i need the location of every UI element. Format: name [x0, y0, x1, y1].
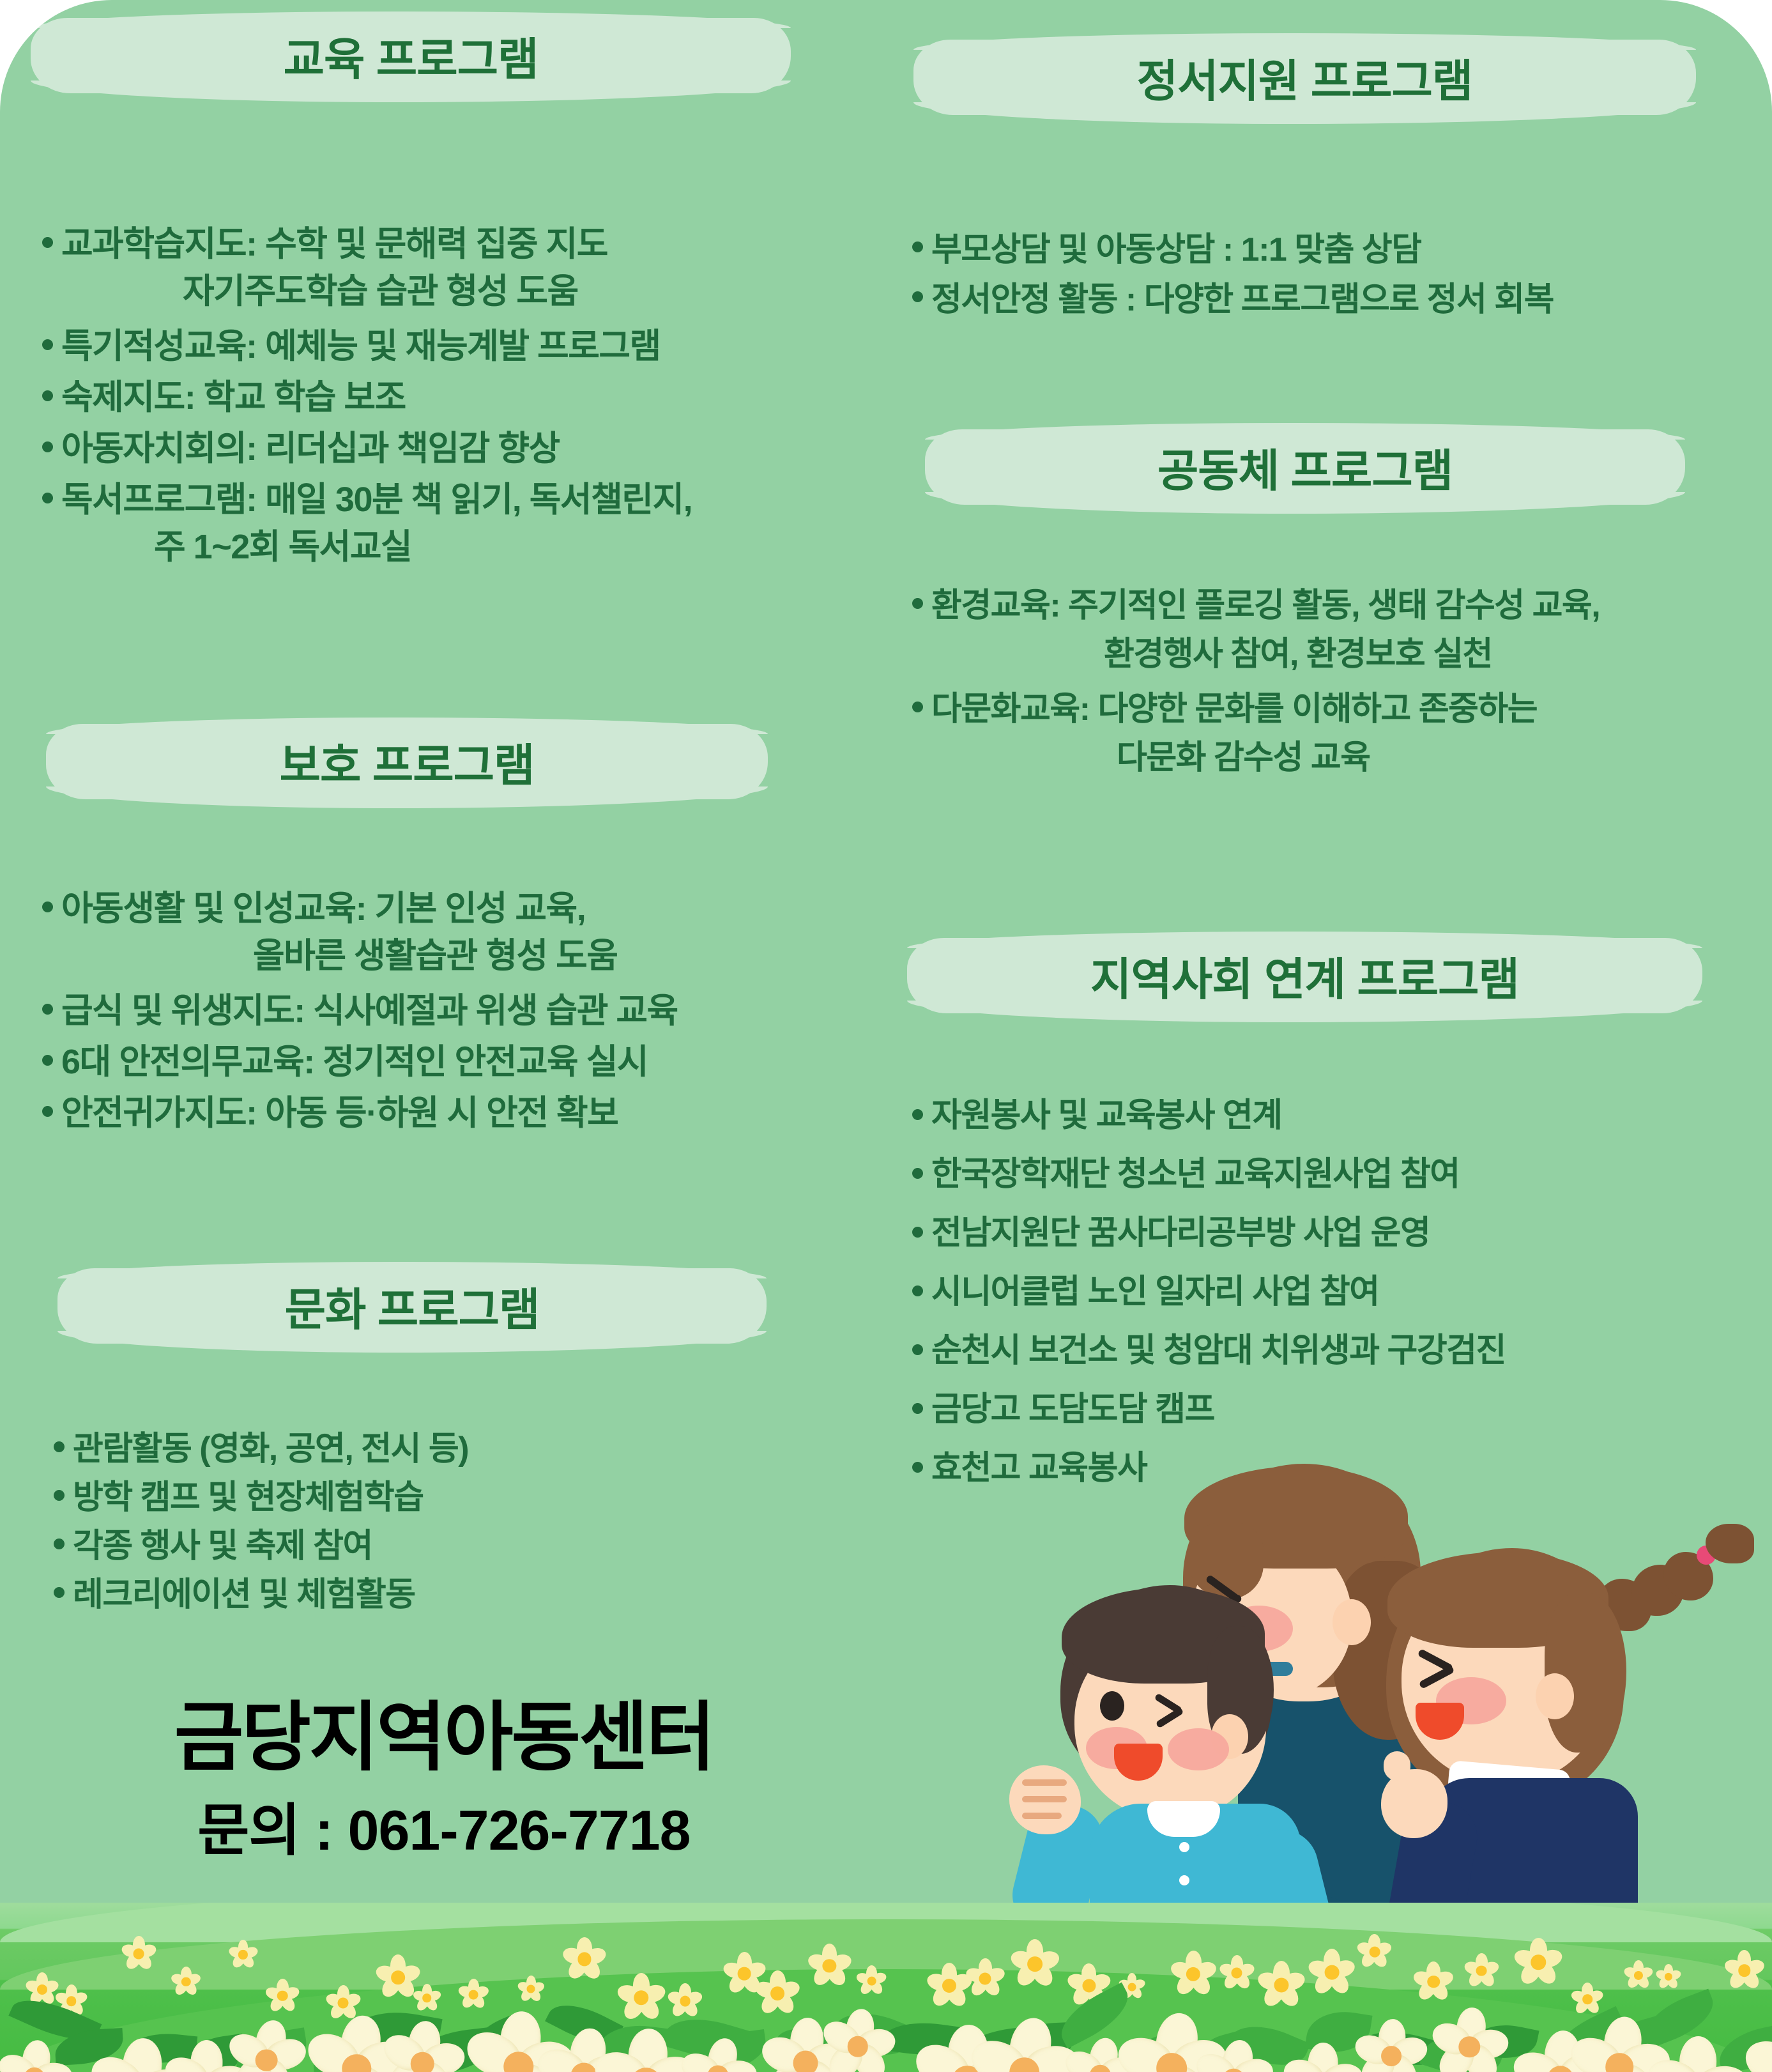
star-center — [634, 1990, 649, 2006]
star-flower — [460, 1981, 488, 2009]
list-item: 안전귀가지도: 아동 등·하원 시 안전 확보 — [40, 1089, 883, 1137]
bullet-dot — [54, 1587, 65, 1598]
list-item-text: 다문화교육: 다양한 문화를 이해하고 존중하는 — [931, 691, 1537, 728]
star-center — [391, 1970, 405, 1984]
star-center — [1325, 1965, 1340, 1980]
list-item: 시니어클럽 노인 일자리 사업 참여 — [910, 1262, 1772, 1321]
list-item: 순천시 보건소 및 청암대 치위생과 구강검진 — [910, 1321, 1772, 1380]
list-item-text: 레크리에이션 및 체험활동 — [73, 1576, 415, 1613]
list-item: 한국장학재단 청소년 교육지원사업 참여 — [910, 1145, 1772, 1204]
flower-bloom — [1434, 2011, 1505, 2072]
banner-education: 교육 프로그램 — [31, 18, 791, 93]
list-item-text: 관람활동 (영화, 공연, 전시 등) — [73, 1431, 468, 1468]
star-flower — [967, 1961, 1003, 1997]
list-item: 관람활동 (영화, 공연, 전시 등) — [51, 1425, 882, 1473]
flower-bloom — [383, 2025, 461, 2072]
list-item: 부모상담 및 아동상담 : 1:1 맞춤 상담 — [910, 225, 1766, 275]
banner-title-education: 교육 프로그램 — [284, 24, 538, 88]
list-item: 숙제지도: 학교 학습 보조 — [40, 374, 870, 421]
bullet-dot — [42, 339, 53, 350]
flower-center — [1381, 2046, 1402, 2066]
star-flower — [172, 1968, 199, 1995]
list-item-continuation: 주 1~2회 독서교실 — [61, 523, 870, 571]
star-flower — [669, 1985, 701, 2017]
list-item-text: 정서안정 활동 : 다양한 프로그램으로 정서 회복 — [931, 281, 1554, 318]
star-center — [770, 1987, 784, 2001]
list-item: 정서안정 활동 : 다양한 프로그램으로 정서 회복 — [910, 275, 1766, 325]
flower-bloom — [1357, 2022, 1425, 2072]
bullet-dot — [42, 237, 53, 248]
list-item: 다문화교육: 다양한 문화를 이해하고 존중하는 다문화 감수성 교육 — [910, 685, 1772, 782]
banner-title-community-linkage: 지역사회 연계 프로그램 — [1090, 944, 1519, 1008]
flower-center — [847, 2036, 868, 2057]
list-item: 자원봉사 및 교육봉사 연계 — [910, 1086, 1772, 1145]
list-item-text: 방학 캠프 및 현장체험학습 — [73, 1479, 424, 1516]
list-item-text: 안전귀가지도: 아동 등·하원 시 안전 확보 — [61, 1094, 618, 1132]
star-flower — [565, 1939, 604, 1979]
flower-center — [793, 2051, 818, 2072]
star-center — [867, 1976, 876, 1986]
bullet-dot — [42, 493, 53, 503]
flower-bloom — [1196, 2043, 1271, 2072]
banner-title-community: 공동체 프로그램 — [1157, 435, 1453, 500]
list-item: 특기적성교육: 예체능 및 재능계발 프로그램 — [40, 323, 870, 370]
list-item-text: 숙제지도: 학교 학습 보조 — [61, 378, 406, 417]
star-flower — [929, 1965, 970, 2007]
star-center — [1082, 1979, 1096, 1992]
list-item-text: 아동자치회의: 리더십과 책임감 향상 — [61, 429, 560, 468]
star-center — [423, 1993, 432, 2002]
bullet-dot — [912, 1227, 923, 1238]
list-culture: 관람활동 (영화, 공연, 전시 등) 방학 캠프 및 현장체험학습 각종 행사… — [51, 1425, 882, 1619]
poster-canvas: 교육 프로그램 교과학습지도: 수학 및 문해력 집중 지도 자기주도학습 습관… — [0, 0, 1772, 2072]
star-flower — [230, 1942, 257, 1968]
list-item-continuation: 자기주도학습 습관 형성 도움 — [61, 268, 870, 315]
star-flower — [123, 1938, 155, 1970]
flower-grass-border — [0, 1903, 1772, 2072]
star-center — [134, 1949, 144, 1960]
bullet-dot — [912, 598, 923, 609]
bullet-dot — [42, 1004, 53, 1015]
star-center — [338, 1997, 349, 2008]
star-flower — [757, 1973, 798, 2014]
list-item-text: 각종 행사 및 축제 참여 — [73, 1528, 372, 1565]
list-item-text: 특기적성교육: 예체능 및 재능계발 프로그램 — [61, 327, 661, 365]
banner-community: 공동체 프로그램 — [925, 429, 1685, 505]
star-center — [680, 1995, 691, 2006]
flower-bloom — [823, 2012, 892, 2072]
list-item: 환경교육: 주기적인 플로깅 활동, 생태 감수성 교육, 환경행사 참여, 환… — [910, 581, 1772, 679]
star-flower — [27, 1974, 57, 2004]
list-item-text: 환경교육: 주기적인 플로깅 활동, 생태 감수성 교육, — [931, 587, 1600, 624]
flower-bloom — [683, 2041, 753, 2072]
star-flower — [1012, 1942, 1057, 1986]
bullet-dot — [42, 1055, 53, 1066]
bullet-dot — [42, 1106, 53, 1117]
left-column: 교육 프로그램 교과학습지도: 수학 및 문해력 집중 지도 자기주도학습 습관… — [0, 0, 888, 1904]
flower-center — [411, 2052, 434, 2072]
star-center — [1027, 1956, 1043, 1972]
star-flower — [519, 1977, 543, 2001]
star-flower — [809, 1945, 850, 1986]
list-item-text: 급식 및 위생지도: 식사예절과 위생 습관 교육 — [61, 992, 678, 1030]
star-center — [1582, 1994, 1593, 2004]
list-item: 급식 및 위생지도: 식사예절과 위생 습관 교육 — [40, 987, 883, 1034]
star-flower — [1516, 1940, 1561, 1984]
flower-bloom — [1651, 2041, 1744, 2072]
flower-bloom — [1285, 2046, 1359, 2072]
banner-title-emotional-support: 정서지원 프로그램 — [1137, 45, 1473, 110]
bullet-dot — [42, 390, 53, 401]
list-item-text: 금당고 도담도담 캠프 — [931, 1391, 1214, 1428]
star-flower — [1172, 1953, 1214, 1995]
bullet-dot — [54, 1441, 65, 1452]
star-flower — [1260, 1963, 1303, 2007]
star-flower — [1359, 1936, 1390, 1967]
bullet-dot — [912, 702, 923, 712]
bullet-dot — [912, 1344, 923, 1355]
list-item-text: 순천시 보건소 및 청암대 치위생과 구강검진 — [931, 1332, 1506, 1369]
list-item-text: 부모상담 및 아동상담 : 1:1 맞춤 상담 — [931, 231, 1421, 268]
star-flower — [1416, 1963, 1452, 2000]
star-flower — [1726, 1953, 1762, 1989]
star-flower — [1657, 1965, 1680, 1988]
star-flower — [1573, 1984, 1602, 2014]
star-center — [469, 1990, 478, 1999]
star-center — [1127, 1983, 1136, 1991]
banner-community-linkage: 지역사회 연계 프로그램 — [907, 938, 1702, 1013]
bullet-dot — [42, 902, 53, 912]
flower-bloom — [0, 2043, 69, 2072]
list-item: 독서프로그램: 매일 30분 책 읽기, 독서챌린지, 주 1~2회 독서교실 — [40, 476, 870, 571]
star-center — [942, 1979, 956, 1993]
list-item-text: 6대 안전의무교육: 정기적인 안전교육 실시 — [61, 1043, 648, 1081]
star-center — [1476, 1965, 1487, 1976]
list-item-continuation: 올바른 생활습관 형성 도움 — [61, 932, 883, 979]
star-flower — [414, 1985, 439, 2011]
star-center — [979, 1972, 991, 1984]
bullet-dot — [912, 291, 923, 302]
star-center — [277, 1990, 288, 2001]
star-center — [1369, 1947, 1380, 1958]
list-community: 환경교육: 주기적인 플로깅 활동, 생태 감수성 교육, 환경행사 참여, 환… — [910, 581, 1772, 782]
star-flower — [327, 1987, 359, 2019]
star-flower — [858, 1967, 885, 1995]
list-item: 교과학습지도: 수학 및 문해력 집중 지도 자기주도학습 습관 형성 도움 — [40, 220, 870, 315]
flower-bloom — [229, 2023, 303, 2072]
list-community-linkage: 자원봉사 및 교육봉사 연계 한국장학재단 청소년 교육지원사업 참여 전남지원… — [910, 1086, 1772, 1498]
banner-culture: 문화 프로그램 — [57, 1268, 767, 1344]
banner-title-culture: 문화 프로그램 — [285, 1274, 540, 1339]
star-center — [738, 1967, 751, 1980]
list-item-text: 전남지원단 꿈사다리공부방 사업 운영 — [931, 1215, 1430, 1252]
star-center — [1274, 1977, 1288, 1992]
list-item-text: 자원봉사 및 교육봉사 연계 — [931, 1097, 1282, 1134]
star-flower — [1625, 1962, 1651, 1988]
flower-center — [256, 2049, 278, 2071]
flower-bloom — [1747, 2023, 1772, 2072]
star-flower — [1221, 1957, 1253, 1989]
star-flower — [378, 1957, 418, 1998]
list-item: 방학 캠프 및 현장체험학습 — [51, 1473, 882, 1522]
list-item: 아동생활 및 인성교육: 기본 인성 교육, 올바른 생활습관 형성 도움 — [40, 885, 883, 979]
star-flower — [1465, 1955, 1497, 1987]
contact-info: 문의 : 061-726-7718 — [0, 1799, 888, 1862]
running-children-illustration — [1000, 1446, 1754, 1976]
center-name: 금당지역아동센터 — [0, 1696, 888, 1779]
bullet-dot — [912, 1462, 923, 1473]
banner-emotional-support: 정서지원 프로그램 — [913, 40, 1696, 115]
star-flower — [1311, 1951, 1354, 1994]
list-item: 아동자치회의: 리더십과 책임감 향상 — [40, 425, 870, 472]
list-item-continuation: 다문화 감수성 교육 — [931, 733, 1772, 782]
star-center — [1232, 1967, 1242, 1978]
bullet-dot — [912, 1285, 923, 1296]
star-center — [527, 1985, 535, 1993]
list-item-text: 시니어클럽 노인 일자리 사업 참여 — [931, 1273, 1379, 1310]
list-item: 전남지원단 꿈사다리공부방 사업 운영 — [910, 1204, 1772, 1262]
list-item: 각종 행사 및 축제 참여 — [51, 1522, 882, 1570]
bullet-dot — [912, 242, 923, 252]
flower-bloom — [598, 2034, 694, 2072]
list-emotional-support: 부모상담 및 아동상담 : 1:1 맞춤 상담 정서안정 활동 : 다양한 프로… — [910, 225, 1766, 325]
list-item-text: 한국장학재단 청소년 교육지원사업 참여 — [931, 1156, 1460, 1193]
bullet-dot — [54, 1539, 65, 1549]
list-item-text: 독서프로그램: 매일 30분 책 읽기, 독서챌린지, — [61, 480, 692, 519]
bullet-dot — [912, 1168, 923, 1179]
bullet-dot — [912, 1403, 923, 1414]
list-item: 6대 안전의무교육: 정기적인 안전교육 실시 — [40, 1038, 883, 1086]
bullet-dot — [54, 1490, 65, 1501]
star-center — [37, 1984, 47, 1995]
list-item: 금당고 도담도담 캠프 — [910, 1380, 1772, 1439]
bullet-dot — [912, 1109, 923, 1120]
list-protection: 아동생활 및 인성교육: 기본 인성 교육, 올바른 생활습관 형성 도움 급식… — [40, 885, 883, 1137]
bullet-dot — [42, 441, 53, 452]
banner-protection: 보호 프로그램 — [46, 724, 768, 799]
star-flower — [267, 1980, 298, 2011]
list-item-text: 교과학습지도: 수학 및 문해력 집중 지도 — [61, 225, 607, 263]
list-education: 교과학습지도: 수학 및 문해력 집중 지도 자기주도학습 습관 형성 도움 특… — [40, 220, 870, 571]
banner-title-protection: 보호 프로그램 — [280, 730, 535, 794]
list-item-continuation: 환경행사 참여, 환경보호 실천 — [931, 630, 1772, 679]
star-flower — [619, 1976, 663, 2020]
star-center — [66, 1996, 77, 2006]
flower-bloom — [974, 2022, 1075, 2072]
list-item: 레크리에이션 및 체험활동 — [51, 1570, 882, 1619]
list-item-text: 아동생활 및 인성교육: 기본 인성 교육, — [61, 889, 585, 928]
